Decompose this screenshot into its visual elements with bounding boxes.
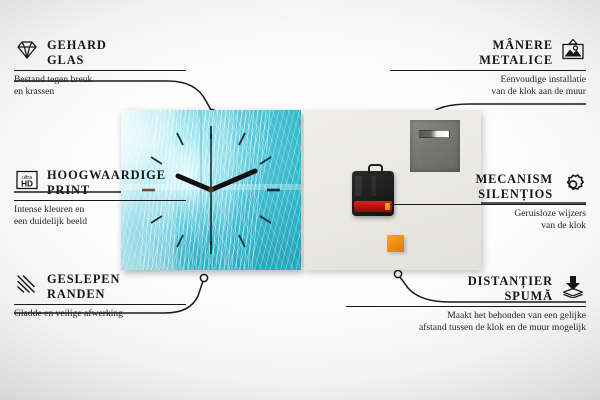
callout-manere-metalice: MÂNERE METALICE Eenvoudige installatie v… [390, 38, 586, 99]
callout-header: GESLEPEN RANDEN [14, 272, 186, 302]
ultra-hd-icon: ultra HD [14, 168, 40, 192]
callout-header: MECANISM SILENȚIOS [390, 172, 586, 202]
callout-divider [390, 204, 586, 205]
callout-geslepen-randen: GESLEPEN RANDEN Gladde en veilige afwerk… [14, 272, 186, 320]
callout-description: Geruisloze wijzers van de klok [390, 208, 586, 233]
infographic-canvas: GEHARD GLAS Bestand tegen breuk en krass… [0, 0, 600, 400]
callout-distantier-spuma: DISTANȚIER SPUMĂ Maakt het behouden van … [346, 274, 586, 335]
hanger-keyhole-slot [418, 130, 450, 138]
callout-mecanism-silentios: MECANISM SILENȚIOS Geruisloze wijzers va… [390, 172, 586, 233]
callout-divider [390, 70, 586, 71]
callout-header: DISTANȚIER SPUMĂ [346, 274, 586, 304]
diamond-gem-icon [14, 38, 40, 62]
callout-description: Maakt het behouden van een gelijke afsta… [346, 310, 586, 335]
callout-header: GEHARD GLAS [14, 38, 186, 68]
callout-title: DISTANȚIER SPUMĂ [468, 274, 553, 304]
gear-icon [560, 172, 586, 196]
callout-title: MECANISM SILENȚIOS [476, 172, 553, 202]
minute-hand [211, 171, 255, 190]
callout-title: HOOGWAARDIGE PRINT [47, 168, 166, 198]
quartz-clock-mechanism [352, 171, 394, 216]
callout-title: GESLEPEN RANDEN [47, 272, 120, 302]
beveled-edges-icon [14, 272, 40, 296]
callout-title: GEHARD GLAS [47, 38, 107, 68]
callout-header: ultra HD HOOGWAARDIGE PRINT [14, 168, 186, 198]
picture-frame-hanger-icon [560, 38, 586, 62]
callout-hoogwaardige-print: ultra HD HOOGWAARDIGE PRINT Intense kleu… [14, 168, 186, 229]
clock-center-cap [208, 187, 213, 192]
callout-gehard-glas: GEHARD GLAS Bestand tegen breuk en krass… [14, 38, 186, 99]
svg-text:HD: HD [21, 179, 33, 188]
callout-description: Bestand tegen breuk en krassen [14, 74, 186, 99]
callout-description: Gladde en veilige afwerking [14, 308, 186, 320]
clock-hands [178, 134, 255, 245]
leader-dot-geslepen-randen [200, 274, 207, 281]
callout-divider [14, 200, 186, 201]
callout-divider [14, 70, 186, 71]
arrow-down-onto-layers-icon [560, 274, 586, 298]
callout-divider [14, 304, 186, 305]
callout-divider [346, 306, 586, 307]
callout-description: Intense kleuren en een duidelijk beeld [14, 204, 186, 229]
metal-hanger-plate [410, 120, 460, 173]
mechanism-face-detail [355, 176, 391, 196]
callout-description: Eenvoudige installatie van de klok aan d… [390, 74, 586, 99]
callout-title: MÂNERE METALICE [479, 38, 553, 68]
aa-battery [354, 201, 391, 213]
mechanism-hanger-loop [368, 164, 383, 175]
orange-foam-spacer [387, 235, 404, 252]
callout-header: MÂNERE METALICE [390, 38, 586, 68]
